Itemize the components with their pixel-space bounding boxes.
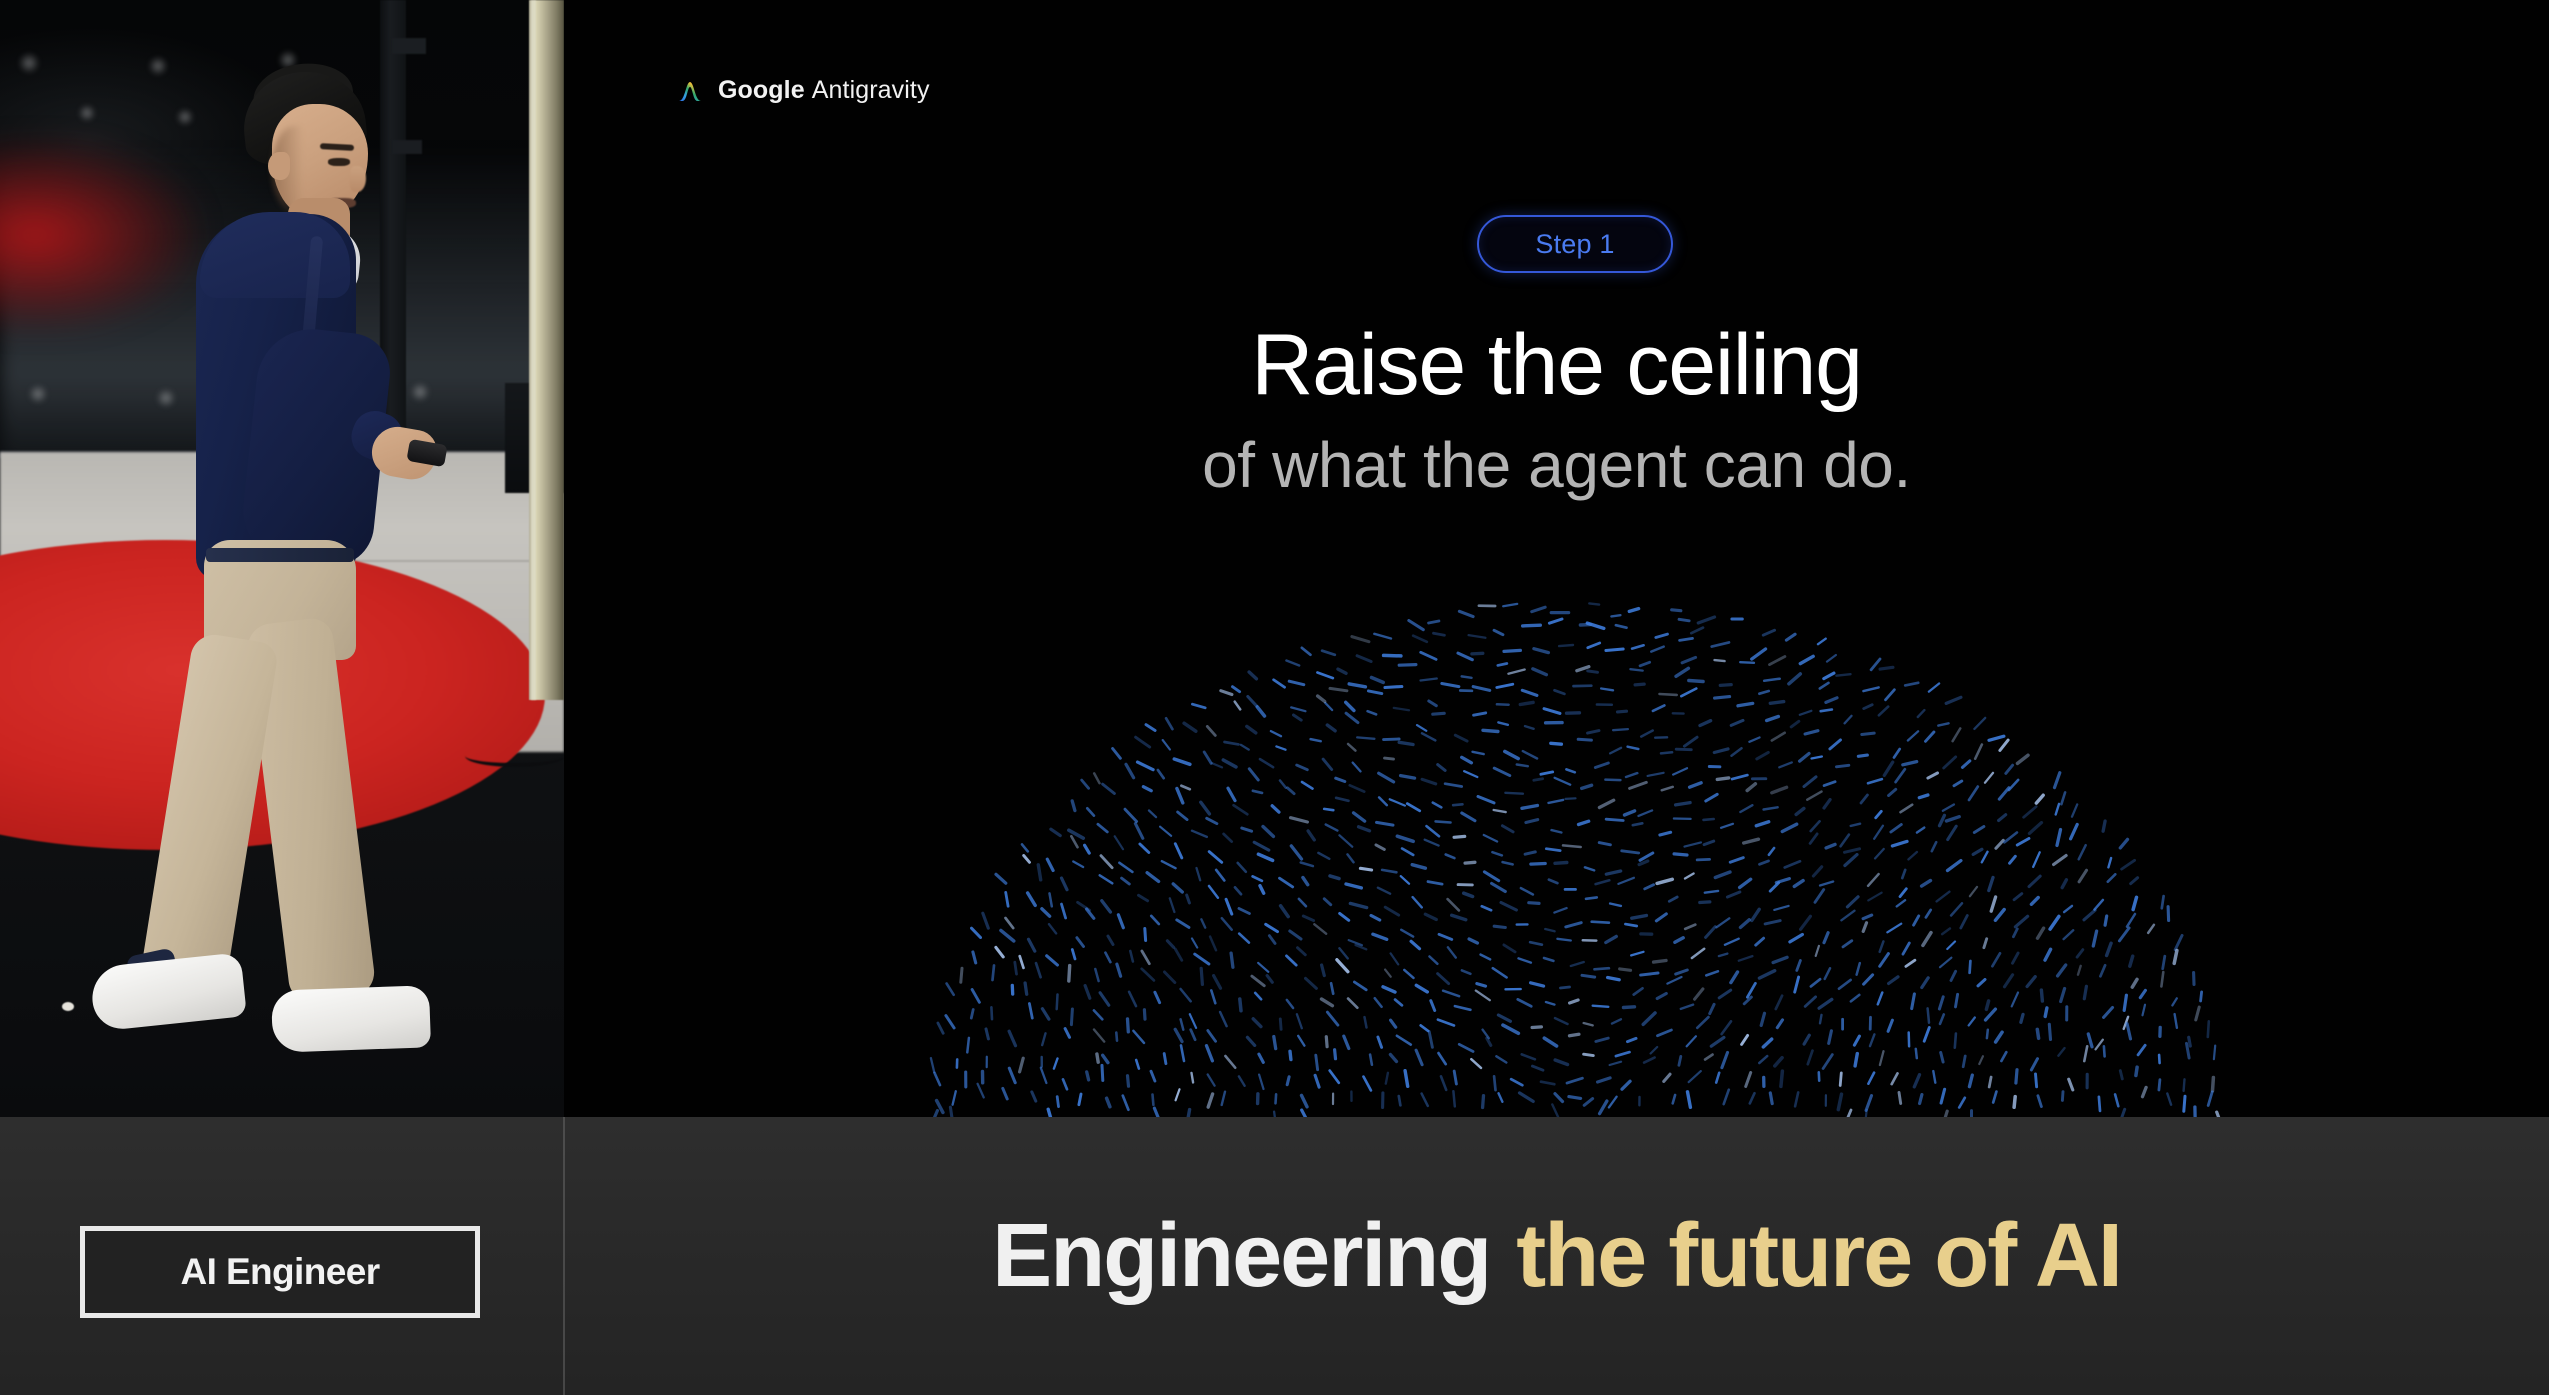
brand-company: Google [718,76,805,104]
ai-engineer-logo-box: AI Engineer [80,1226,480,1318]
presenter-belt [206,548,354,562]
tagline-white-part: Engineering [992,1205,1490,1308]
event-tagline: Engineering the future of AI [564,1117,2549,1395]
sweater-shoulder [200,212,350,298]
slide-subheadline: of what the agent can do. [564,430,2549,500]
antigravity-logo-icon [676,77,704,105]
slide-headline: Raise the ceiling [564,320,2549,410]
brand-wordmark: Google Antigravity [718,76,930,105]
presenter-figure [0,0,564,1117]
tagline-gold-part: the future of AI [1516,1205,2121,1308]
broadcast-stage: Google Antigravity Step 1 Raise the ceil… [0,0,2549,1395]
presenter-ear [268,152,290,180]
presentation-slide: Google Antigravity Step 1 Raise the ceil… [564,0,2549,1117]
ai-engineer-logo-label: AI Engineer [181,1251,380,1293]
presenter-eye [328,158,350,166]
trouser-leg [139,631,280,998]
google-antigravity-brand: Google Antigravity [676,76,930,105]
particle-dome-canvas [564,560,2549,1117]
white-sneaker [89,952,247,1032]
white-sneaker [271,985,431,1052]
brand-product: Antigravity [812,76,930,104]
presenter-nose [350,166,366,192]
step-badge-label: Step 1 [1535,229,1614,260]
step-badge: Step 1 [1477,215,1673,273]
speaker-camera-feed [0,0,564,1117]
particle-dome-visualization [564,560,2549,1117]
